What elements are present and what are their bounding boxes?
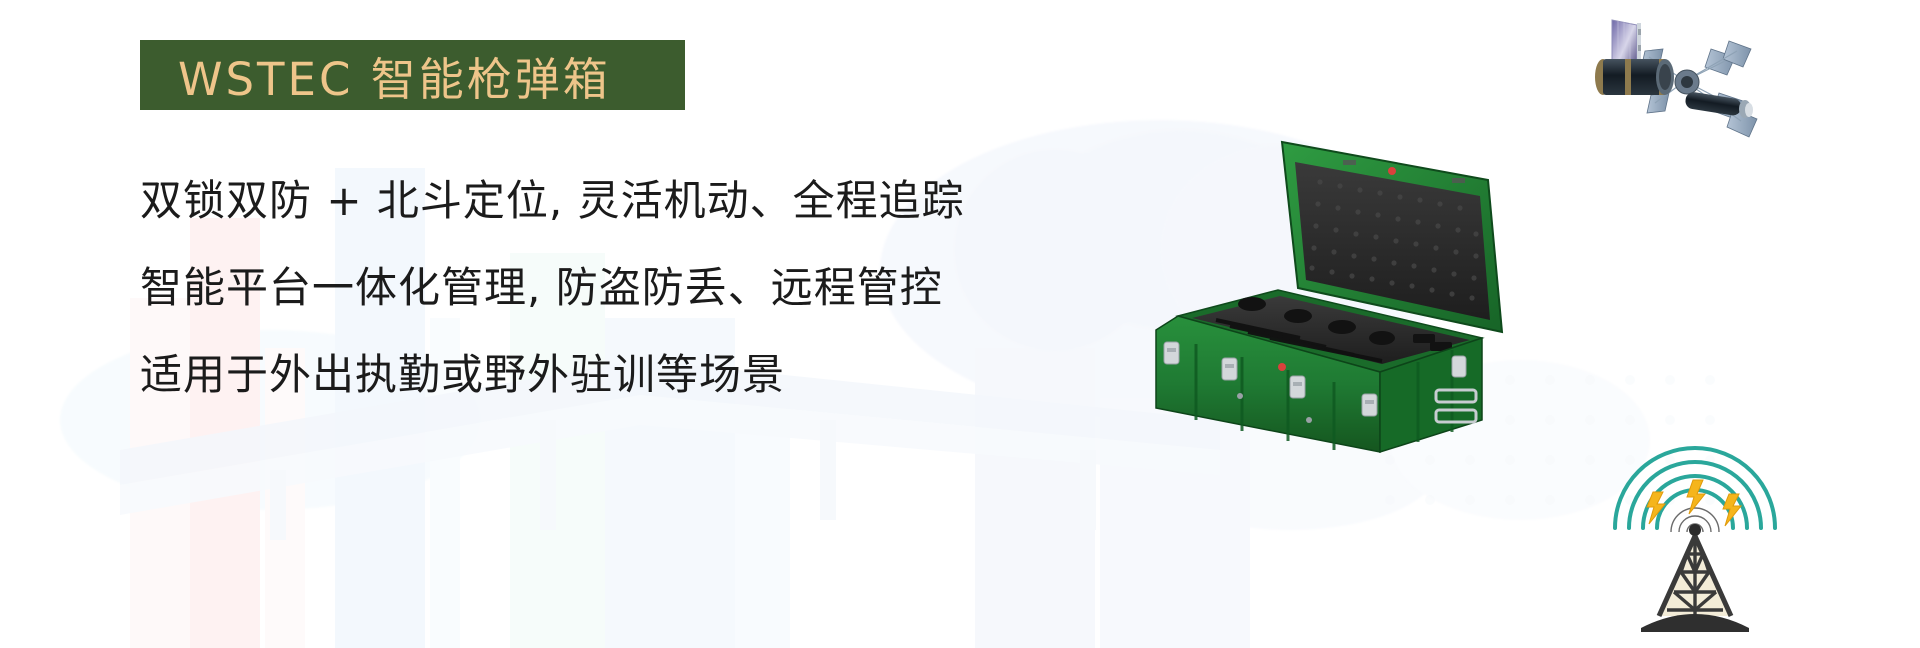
feature-list: 双锁双防 + 北斗定位, 灵活机动、全程追踪 智能平台一体化管理, 防盗防丢、远… <box>140 180 1140 396</box>
feature-line-1: 双锁双防 + 北斗定位, 灵活机动、全程追踪 <box>140 180 1140 222</box>
title-bar: WSTEC 智能枪弹箱 <box>140 40 685 110</box>
lid-status-indicator <box>1388 167 1396 175</box>
page-title: WSTEC 智能枪弹箱 <box>178 43 611 108</box>
feature-line-2: 智能平台一体化管理, 防盗防丢、远程管控 <box>140 267 1140 309</box>
product-case-image <box>1130 120 1510 470</box>
tower-tip <box>1689 524 1701 536</box>
feature-line-3: 适用于外出执勤或野外驻训等场景 <box>140 354 1140 396</box>
satellite-icon <box>1585 5 1785 165</box>
case-latch[interactable] <box>1362 394 1377 416</box>
body-status-indicator <box>1278 363 1286 371</box>
case-latch[interactable] <box>1164 342 1179 364</box>
case-latch[interactable] <box>1452 356 1466 377</box>
tower-structure <box>1641 536 1749 632</box>
signal-tower-icon <box>1605 440 1785 640</box>
case-latch[interactable] <box>1222 358 1237 380</box>
promo-banner: WSTEC 智能枪弹箱 双锁双防 + 北斗定位, 灵活机动、全程追踪 智能平台一… <box>0 0 1920 648</box>
case-latch[interactable] <box>1290 376 1305 398</box>
